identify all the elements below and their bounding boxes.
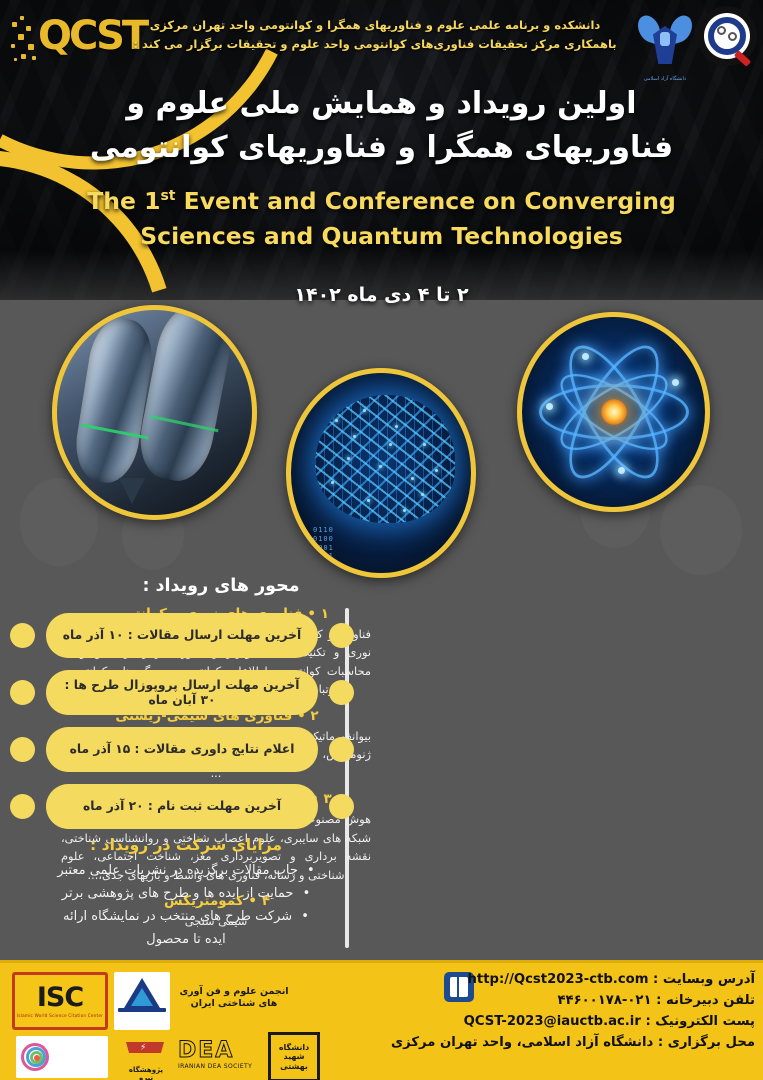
bolt-icon: ⚡ [140, 1043, 146, 1053]
top-right-logo-group: دانشگاه آزاد اسلامی [633, 6, 757, 90]
title-farsi-line-1: اولین رویداد و همایش ملی علوم و [0, 82, 763, 126]
ghost-circle-4 [660, 485, 742, 575]
phone-number: ۰۲۱-۴۴۶۰۰۱۷۸ [557, 993, 651, 1008]
topics-heading: محور های رویداد : [45, 576, 375, 596]
conference-poster: QCST دانشکده و برنامه علمی علوم و فناوری… [0, 0, 763, 1080]
benefits-heading: مزایای شرکت در رویداد : [14, 836, 358, 854]
deadline-pill[interactable]: اعلام نتایج داوری مقالات : ۱۵ آذر ماه [46, 727, 318, 772]
bullet-icon: • [303, 886, 311, 901]
benefit-item: ایده تا محصول [14, 930, 358, 950]
microscope-image [52, 305, 257, 520]
page-title-farsi: اولین رویداد و همایش ملی علوم و فناوریها… [0, 82, 763, 171]
triangle-logo-caption [116, 1023, 168, 1027]
niroo-caption: پژوهشگاه نیرو [122, 1066, 170, 1080]
contact-info: آدرس وبسایت : http://Qcst2023-ctb.com تل… [325, 970, 755, 1053]
footer-bar: آدرس وبسایت : http://Qcst2023-ctb.com تل… [0, 960, 763, 1080]
page-title-english: The 1st Event and Conference on Convergi… [0, 184, 763, 255]
deadline-pill[interactable]: آخرین مهلت ثبت نام : ۲۰ آذر ماه [46, 784, 318, 829]
website-label: آدرس وبسایت : [653, 972, 755, 987]
isc-logo-subtext: Islamic World Science Citation Center [17, 1013, 103, 1018]
rings-icon [19, 1039, 59, 1075]
deadline-row: اعلام نتایج داوری مقالات : ۱۵ آذر ماه [8, 726, 356, 773]
bullet-icon: • [301, 909, 309, 924]
pill-dot-right [329, 737, 354, 762]
pill-dot-right [329, 680, 354, 705]
title-en-ordinal: st [160, 188, 175, 204]
sponsor-logos: ISC Islamic World Science Citation Cente… [6, 966, 346, 1076]
deadline-pill[interactable]: آخرین مهلت ارسال پروپوزال طرح ها : ۳۰ آب… [46, 670, 318, 715]
pill-dot-left [10, 680, 35, 705]
website-row: آدرس وبسایت : http://Qcst2023-ctb.com [325, 970, 755, 991]
deadline-row: آخرین مهلت ارسال مقالات : ۱۰ آذر ماه [8, 612, 356, 659]
organizer-line-1: دانشکده و برنامه علمی علوم و فناوریهای ه… [125, 16, 625, 35]
venue-label: محل برگزاری : [658, 1035, 755, 1050]
triangle-institute-logo [114, 972, 170, 1030]
deadline-row: آخرین مهلت ارسال پروپوزال طرح ها : ۳۰ آب… [8, 669, 356, 716]
title-english-line-2: Sciences and Quantum Technologies [0, 219, 763, 254]
website-url[interactable]: http://Qcst2023-ctb.com [468, 972, 649, 987]
dea-society-logo: DEA IRANIAN DEA SOCIETY [178, 1040, 264, 1080]
benefit-text: ایده تا محصول [146, 932, 226, 947]
shahid-beheshti-logo: دانشگاه شهید بهشتی [268, 1032, 320, 1080]
title-farsi-line-2: فناوریهای همگرا و فناوریهای کوانتومی [0, 126, 763, 170]
bullet-icon: • [307, 863, 315, 878]
title-en-rest: Event and Conference on Converging [184, 187, 676, 215]
title-en-prefix: The 1 [87, 187, 160, 215]
dea-logo-text: DEA [178, 1040, 264, 1062]
deadline-pill[interactable]: آخرین مهلت ارسال مقالات : ۱۰ آذر ماه [46, 613, 318, 658]
pill-dot-left [10, 623, 35, 648]
footer-divider [0, 960, 763, 963]
pill-dot-right [329, 623, 354, 648]
benefit-text: شرکت طرح های منتخب در نمایشگاه ارائه [63, 909, 292, 924]
atom-image [517, 312, 710, 512]
pill-dot-left [10, 794, 35, 819]
azad-university-logo: دانشگاه آزاد اسلامی [637, 6, 693, 84]
deadline-row: آخرین مهلت ثبت نام : ۲۰ آذر ماه [8, 783, 356, 830]
benefit-item: • چاپ مقالات برگزیده در نشریات علمی معتب… [14, 861, 358, 881]
event-date: ۲ تا ۴ دی ماه ۱۴۰۲ [0, 284, 763, 306]
pill-dot-left [10, 737, 35, 762]
benefit-item: • شرکت طرح های منتخب در نمایشگاه ارائه [14, 907, 358, 927]
email-row: پست الکترونیک : QCST-2023@iauctb.ac.ir [325, 1012, 755, 1033]
venue-name: دانشگاه آزاد اسلامی، واحد تهران مرکزی [391, 1035, 653, 1050]
phone-label: تلفن دبیرخانه : [656, 993, 755, 1008]
benefit-text: حمایت از ایده ها و طرح های پژوهشی برتر [62, 886, 294, 901]
niroo-research-logo: ⚡ پژوهشگاه نیرو [122, 1040, 170, 1080]
venue-row: محل برگزاری : دانشگاه آزاد اسلامی، واحد … [325, 1033, 755, 1054]
deadlines-section: آخرین مهلت ارسال مقالات : ۱۰ آذر ماه آخر… [8, 612, 356, 840]
qcst-logo: QCST [10, 10, 142, 72]
benefit-text: چاپ مقالات برگزیده در نشریات علمی معتبر [57, 863, 298, 878]
phone-row: تلفن دبیرخانه : ۰۲۱-۴۴۶۰۰۱۷۸ [325, 991, 755, 1012]
qcrc-circular-logo [697, 6, 757, 66]
organizer-header: دانشکده و برنامه علمی علوم و فناوریهای ه… [125, 16, 625, 54]
isc-logo-text: ISC [37, 984, 83, 1011]
binary-digits: 0110010010011001 [313, 526, 334, 561]
email-address[interactable]: QCST-2023@iauctb.ac.ir [464, 1014, 641, 1029]
cognitive-association-name: انجمن علوم و فن آوری های شناختی ایران [174, 986, 294, 1011]
pill-dot-right [329, 794, 354, 819]
circuit-brain-image: 0110010010011001 [286, 368, 476, 578]
benefit-item: • حمایت از ایده ها و طرح های پژوهشی برتر [14, 884, 358, 904]
dea-logo-subtext: IRANIAN DEA SOCIETY [178, 1063, 264, 1070]
organizer-line-2: باهمکاری مرکز تحقیقات فناوری‌های کوانتوم… [125, 35, 625, 54]
benefits-section: مزایای شرکت در رویداد : • چاپ مقالات برگ… [14, 836, 358, 954]
isc-logo: ISC Islamic World Science Citation Cente… [12, 972, 108, 1030]
title-english-line-1: The 1st Event and Conference on Convergi… [0, 184, 763, 219]
email-label: پست الکترونیک : [645, 1014, 755, 1029]
cognitive-rings-logo [16, 1036, 108, 1078]
